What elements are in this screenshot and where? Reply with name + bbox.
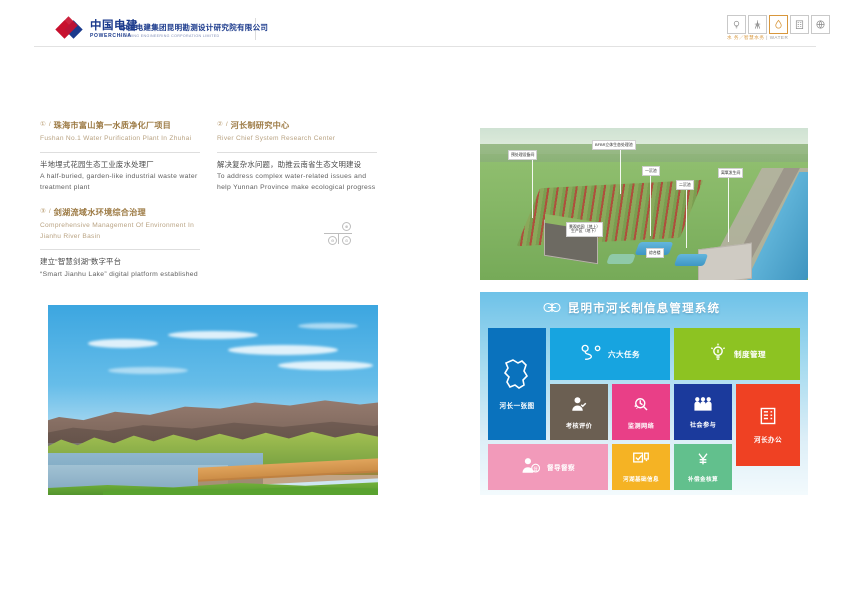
section-block-jianhu: ③ / 剑湖流域水环境综合治理 Comprehensive Management… xyxy=(40,207,200,280)
header-rule xyxy=(34,46,816,47)
dashboard-tile-map-outline[interactable]: 河长一张图 xyxy=(488,328,546,440)
section-title-en: Comprehensive Management Of Environment … xyxy=(40,221,200,241)
dashboard-tile-person-check[interactable]: 考核评价 xyxy=(550,384,608,440)
document-grid-icon xyxy=(758,406,778,431)
dashboard-tile-supervisor[interactable]: 督督导督察 xyxy=(488,444,608,490)
dashboard-tile-document-grid[interactable]: 河长办公 xyxy=(736,384,800,466)
bulb-icon[interactable] xyxy=(727,15,746,34)
section-block-fushan: ① / 珠海市富山第一水质净化厂项目 Fushan No.1 Water Pur… xyxy=(40,120,200,194)
dashboard-tile-label: 制度管理 xyxy=(734,349,766,360)
section-number: ③ xyxy=(40,207,46,217)
header-caption-separator: | xyxy=(766,35,768,40)
bulb-gear-icon xyxy=(708,342,728,367)
dashboard-tile-label: 六大任务 xyxy=(608,349,640,360)
section-title-cn: 珠海市富山第一水质净化厂项目 xyxy=(54,120,171,132)
section-title-cn: 河长制研究中心 xyxy=(231,120,290,132)
aerial-label: 一沉池 xyxy=(642,166,660,176)
deco-circle-right: ⊙ xyxy=(342,236,351,245)
aerial-label: 景观花园（地上） 生产区（地下） xyxy=(566,222,603,237)
header-caption-en: WATER xyxy=(770,35,789,40)
section-title-en: Fushan No.1 Water Purification Plant In … xyxy=(40,134,200,144)
section-rule xyxy=(40,152,200,153)
section-body-en: To address complex water-related issues … xyxy=(217,172,377,194)
person-check-icon xyxy=(570,395,588,418)
dashboard-tile-label: 补偿金核算 xyxy=(688,475,718,483)
dashboard-tile-label: 社会参与 xyxy=(690,420,716,429)
section-slash: / xyxy=(49,207,51,217)
section-body-en: “Smart Jianhu Lake” digital platform est… xyxy=(40,270,200,281)
dashboard-tile-label: 河长一张图 xyxy=(500,400,535,410)
dashboard-tile-grid[interactable]: 河长一张图六大任务制度管理考核评价监测网络社会参与河长办公督督导督察河湖基础信息… xyxy=(480,326,808,495)
brochure-page: 中国电建 POWERCHINA 中国电建集团昆明勘测设计研究院有限公司 KUNM… xyxy=(0,0,850,598)
section-slash: / xyxy=(49,120,51,130)
page-header: 中国电建 POWERCHINA 中国电建集团昆明勘测设计研究院有限公司 KUNM… xyxy=(0,0,850,56)
tower-icon[interactable] xyxy=(748,15,767,34)
section-body-cn: 解决复杂水问题，助推云南省生态文明建设 xyxy=(217,159,377,171)
river-chief-management-system-screenshot: 昆明市河长制信息管理系统 河长一张图六大任务制度管理考核评价监测网络社会参与河长… xyxy=(480,292,808,495)
section-body-cn: 建立“智慧剑湖”数字平台 xyxy=(40,256,200,268)
dashboard-tile-label: 督导督察 xyxy=(547,462,575,472)
jianhu-lake-landscape-photo xyxy=(48,305,378,495)
company-name-en: KUNMING ENGINEERING CORPORATION LIMITED xyxy=(120,34,268,39)
section-body-cn: 半地埋式花园生态工业废水处理厂 xyxy=(40,159,200,171)
dashboard-tile-label: 河湖基础信息 xyxy=(623,475,659,483)
aerial-label: 离氧发生间 xyxy=(718,168,743,178)
section-number: ① xyxy=(40,120,46,130)
dashboard-title: 昆明市河长制信息管理系统 xyxy=(480,300,808,316)
map-outline-icon xyxy=(504,358,530,397)
svg-text:督: 督 xyxy=(533,465,538,472)
dashboard-tile-radar-search[interactable]: 监测网络 xyxy=(612,384,670,440)
fushan-water-plant-aerial-render: 预处理设备间 BFBR立体生态处理池 一沉池 二沉池 离氧发生间 景观花园（地上… xyxy=(480,128,808,280)
dashboard-tile-label: 河长办公 xyxy=(754,434,782,444)
yen-icon xyxy=(695,451,711,472)
water-drop-icon[interactable] xyxy=(769,15,788,34)
section-slash: / xyxy=(226,120,228,130)
dashboard-tile-checklist[interactable]: 河湖基础信息 xyxy=(612,444,670,490)
route-pin-icon xyxy=(580,343,602,366)
section-number: ② xyxy=(217,120,223,130)
header-sector-caption: 水 务／智慧水务 | WATER xyxy=(727,35,788,41)
dashboard-tile-route-pin[interactable]: 六大任务 xyxy=(550,328,670,380)
header-caption-cn: 水 务／智慧水务 xyxy=(727,35,764,40)
section-title-en: River Chief System Research Center xyxy=(217,134,377,144)
section-rule xyxy=(217,152,377,153)
section-block-river-chief: ② / 河长制研究中心 River Chief System Research … xyxy=(217,120,377,194)
aerial-label: BFBR立体生态处理池 xyxy=(592,140,636,150)
section-rule xyxy=(40,249,200,250)
company-name-cn: 中国电建集团昆明勘测设计研究院有限公司 xyxy=(120,23,268,32)
aerial-label: 预处理设备间 xyxy=(508,150,537,160)
deco-circle-top: ⊕ xyxy=(342,222,351,231)
deco-circle-left: ⊖ xyxy=(328,236,337,245)
dashboard-tile-people-group[interactable]: 社会参与 xyxy=(674,384,732,440)
supervisor-icon: 督 xyxy=(521,456,541,479)
globe-icon[interactable] xyxy=(811,15,830,34)
dashboard-tile-label: 监测网络 xyxy=(628,421,654,430)
sector-icon-row[interactable] xyxy=(727,15,830,34)
dashboard-tile-yen[interactable]: 补偿金核算 xyxy=(674,444,732,490)
people-group-icon xyxy=(693,395,713,417)
aerial-label: 综合楼 xyxy=(646,248,664,258)
powerchina-logo-mark xyxy=(58,19,84,41)
dashboard-tile-bulb-gear[interactable]: 制度管理 xyxy=(674,328,800,380)
company-name-block: 中国电建集团昆明勘测设计研究院有限公司 KUNMING ENGINEERING … xyxy=(120,23,268,38)
building-icon[interactable] xyxy=(790,15,809,34)
radar-search-icon xyxy=(632,395,650,418)
dashboard-tile-label: 考核评价 xyxy=(566,421,592,430)
aerial-label: 二沉池 xyxy=(676,180,694,190)
section-title-cn: 剑湖流域水环境综合治理 xyxy=(54,207,146,219)
checklist-icon xyxy=(632,451,650,472)
decorative-mark: ⊕ ⊖ ⊙ xyxy=(322,220,356,246)
section-body-en: A half-buried, garden-like industrial wa… xyxy=(40,172,200,194)
